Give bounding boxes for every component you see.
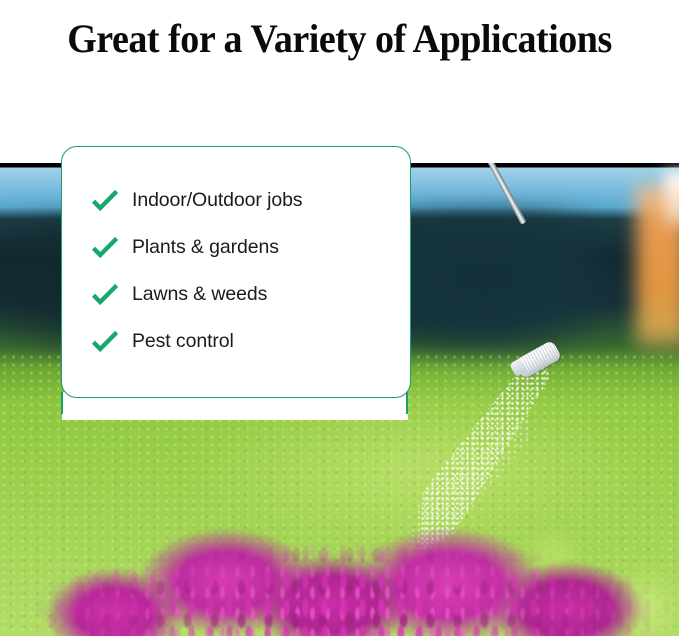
- page-title: Great for a Variety of Applications: [17, 14, 662, 63]
- check-icon: [90, 233, 120, 263]
- features-list: Indoor/Outdoor jobs Plants & gardens Law…: [62, 177, 410, 365]
- flower-sprigs: [30, 503, 670, 636]
- card-lower-border-right: [406, 392, 408, 414]
- list-item: Lawns & weeds: [62, 271, 410, 318]
- list-item: Pest control: [62, 318, 410, 365]
- list-item-label: Plants & gardens: [132, 236, 279, 259]
- list-item: Plants & gardens: [62, 224, 410, 271]
- list-item-label: Pest control: [132, 330, 234, 353]
- list-item-label: Indoor/Outdoor jobs: [132, 189, 302, 212]
- features-card: Indoor/Outdoor jobs Plants & gardens Law…: [61, 146, 411, 398]
- check-icon: [90, 186, 120, 216]
- card-lower-border-left: [61, 392, 63, 414]
- foreground-plants: [0, 503, 679, 636]
- orange-background-highlight: [664, 171, 679, 231]
- check-icon: [90, 327, 120, 357]
- list-item: Indoor/Outdoor jobs: [62, 177, 410, 224]
- promo-image-canvas: Great for a Variety of Applications Indo…: [0, 0, 679, 636]
- header-band: Great for a Variety of Applications: [0, 0, 679, 163]
- list-item-label: Lawns & weeds: [132, 283, 267, 306]
- check-icon: [90, 280, 120, 310]
- tree-line-blur-right: [380, 209, 640, 359]
